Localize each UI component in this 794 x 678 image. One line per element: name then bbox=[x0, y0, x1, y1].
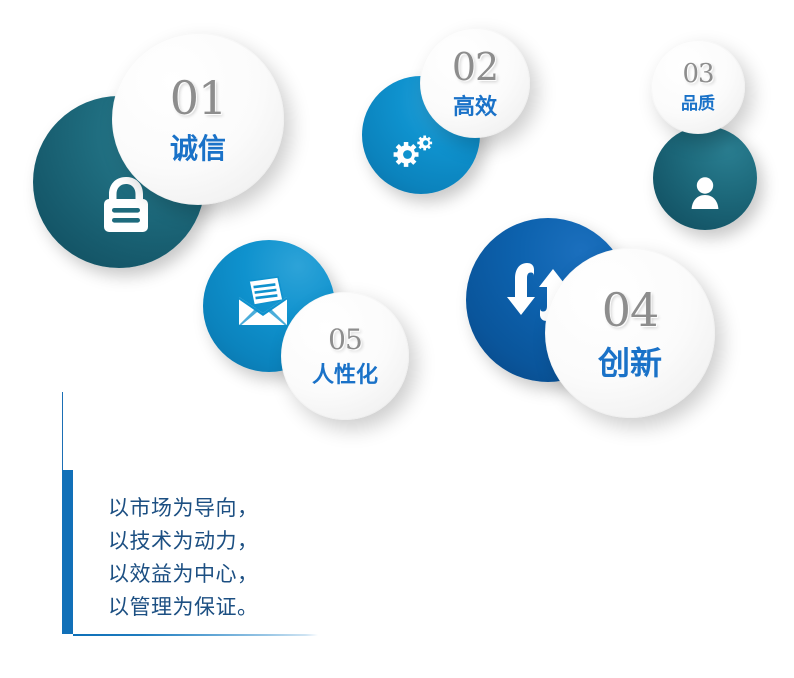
infographic-canvas: 01 诚信 02 高效 03 品质 bbox=[0, 0, 794, 678]
item-number-01: 01 bbox=[170, 75, 227, 121]
label-circle-02[interactable]: 02 高效 bbox=[420, 28, 530, 138]
slogan-accent-bar bbox=[62, 470, 73, 634]
slogan-text: 以市场为导向， 以技术为动力， 以效益为中心， 以管理为保证。 bbox=[108, 492, 259, 624]
item-number-03: 03 bbox=[682, 61, 713, 87]
label-circle-05[interactable]: 05 人性化 bbox=[281, 292, 409, 420]
slogan-block: 以市场为导向， 以技术为动力， 以效益为中心， 以管理为保证。 bbox=[62, 392, 318, 642]
label-circle-03[interactable]: 03 品质 bbox=[651, 40, 745, 134]
item-label-04: 创新 bbox=[598, 347, 662, 379]
slogan-bottom-rule bbox=[73, 634, 318, 636]
icon-circle-03[interactable] bbox=[653, 126, 757, 230]
label-circle-04[interactable]: 04 创新 bbox=[545, 248, 715, 418]
item-number-04: 04 bbox=[602, 287, 659, 333]
item-label-03: 品质 bbox=[681, 96, 715, 113]
item-number-02: 02 bbox=[452, 48, 498, 86]
item-label-05: 人性化 bbox=[312, 365, 378, 387]
person-icon bbox=[653, 126, 757, 230]
item-number-05: 05 bbox=[328, 326, 362, 354]
label-circle-01[interactable]: 01 诚信 bbox=[112, 33, 284, 205]
item-label-01: 诚信 bbox=[170, 135, 226, 163]
slogan-thin-rule bbox=[62, 392, 63, 470]
item-label-02: 高效 bbox=[453, 97, 497, 119]
